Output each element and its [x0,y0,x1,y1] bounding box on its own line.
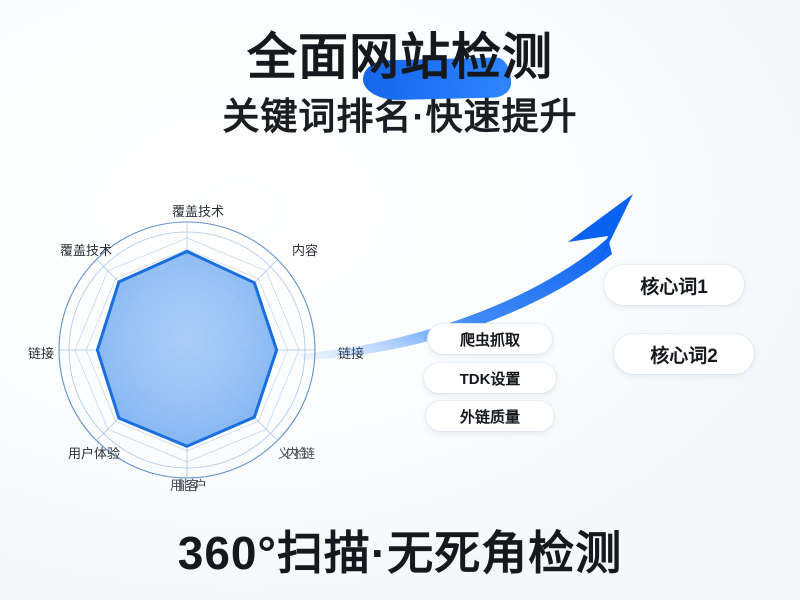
arrow-head [568,194,633,266]
radar-axis-label-top: 覆盖技术 [172,201,224,220]
radar-chart: 覆盖技术 内容 链接 义内检链 用能客户 用户体验 链接 覆盖技术 [20,195,400,505]
tag-chip-label: 爬虫抓取 [460,329,520,350]
keyword-chip-1[interactable]: 核心词1 [604,265,744,305]
tag-chip-crawl[interactable]: 爬虫抓取 [428,324,552,354]
page-subtitle: 关键词排名·快速提升 [0,98,800,135]
radar-axis-label-top-right: 内容 [292,240,318,259]
tag-chip-label: 外链质量 [460,406,520,427]
poster-canvas: 全面网站检测 关键词排名·快速提升 [0,0,800,600]
radar-axis-label-top-left: 覆盖技术 [60,240,112,259]
keyword-chip-2[interactable]: 核心词2 [614,334,754,374]
footer-slogan: 360°扫描·无死角检测 [0,530,800,576]
radar-axis-label-bottom: 用能客户 [170,475,202,494]
page-title: 全面网站检测 [247,32,553,82]
radar-axis-label-bottom-left: 用户体验 [68,443,120,462]
page-title-before: 全面 [247,29,349,85]
radar-axis-label-bottom-right: 义内检链 [278,443,310,462]
keyword-chip-label: 核心词2 [650,341,718,368]
page-title-after: 检测 [451,29,553,85]
keyword-chip-label: 核心词1 [640,272,708,299]
tag-chip-backlink[interactable]: 外链质量 [426,401,554,431]
radar-axis-label-right: 链接 [338,343,364,362]
header-block: 全面网站检测 关键词排名·快速提升 [0,32,800,135]
radar-axis-label-left: 链接 [28,343,54,362]
radar-data-polygon [97,251,276,446]
page-title-highlight: 网站 [349,29,451,85]
tag-chip-label: TDK设置 [460,368,521,389]
tag-chip-tdk[interactable]: TDK设置 [424,363,556,393]
